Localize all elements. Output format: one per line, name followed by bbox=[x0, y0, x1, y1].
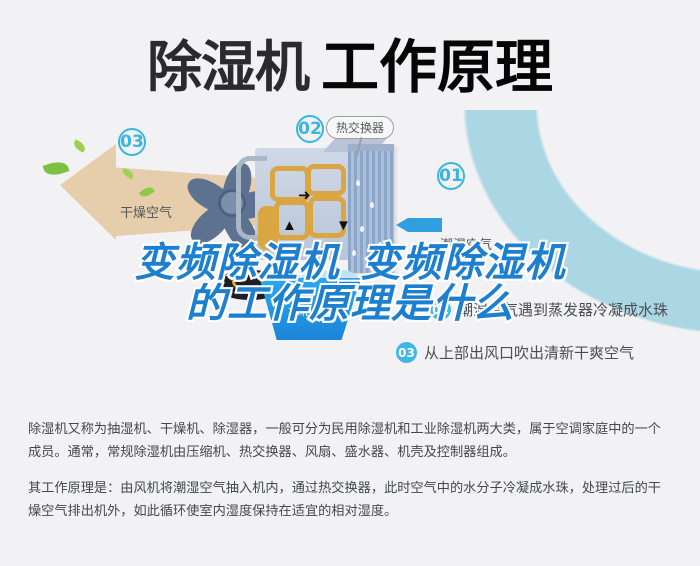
flow-arrow-right-icon: ➜ bbox=[298, 188, 311, 203]
step-item-03: 03 从上部出风口吹出清新干爽空气 bbox=[396, 342, 634, 363]
paragraph-one: 除湿机又称为抽湿机、干燥机、除湿器，一般可分为民用除湿机和工业除湿机两大类，属于… bbox=[28, 418, 674, 464]
watermark-line-2: 的工作原理是什么 bbox=[0, 284, 700, 325]
title-part-two: 工作原理 bbox=[321, 20, 553, 104]
page-root: 除湿机 工作原理 ➜ ▲ ▼ bbox=[0, 0, 700, 566]
callout-label-dry-air: 干燥空气 bbox=[120, 202, 172, 221]
watermark-line-1: 变频除湿机_变频除湿机 bbox=[0, 243, 700, 284]
watermark-headline: 变频除湿机_变频除湿机 的工作原理是什么 bbox=[0, 243, 700, 325]
water-droplet-icon bbox=[360, 226, 364, 232]
title-part-one: 除湿机 bbox=[147, 22, 309, 102]
callout-number-01: 01 bbox=[437, 162, 465, 190]
leaf-icon bbox=[43, 159, 70, 179]
callout-label-heat-exchanger: 热交换器 bbox=[326, 116, 394, 139]
page-title: 除湿机 工作原理 bbox=[0, 26, 700, 98]
air-inlet-arrow-icon bbox=[396, 218, 442, 232]
water-droplet-icon bbox=[370, 202, 374, 208]
step-number-03: 03 bbox=[396, 342, 417, 363]
article-body: 除湿机又称为抽湿机、干燥机、除湿器，一般可分为民用除湿机和工业除湿机两大类，属于… bbox=[28, 418, 674, 536]
leaf-icon bbox=[72, 139, 87, 152]
step-text-03: 从上部出风口吹出清新干爽空气 bbox=[424, 342, 634, 363]
callout-number-02: 02 bbox=[296, 115, 324, 143]
callout-number-03: 03 bbox=[118, 128, 146, 156]
flow-arrow-up-icon: ▲ bbox=[282, 218, 297, 233]
water-droplet-icon bbox=[356, 180, 360, 186]
paragraph-two: 其工作原理是：由风机将潮湿空气抽入机内，通过热交换器，此时空气中的水分子冷凝成水… bbox=[28, 477, 674, 523]
